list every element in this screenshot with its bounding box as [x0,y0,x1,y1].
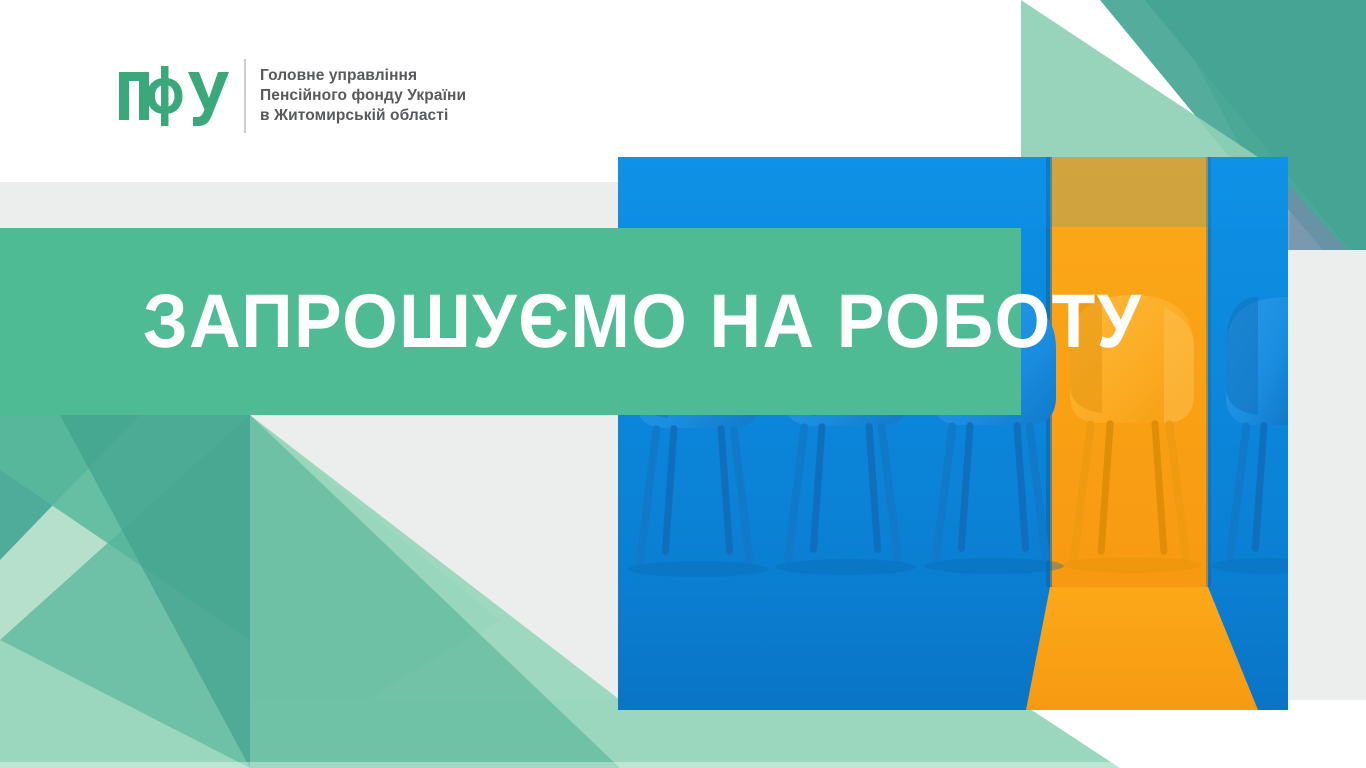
logo-subtitle: Головне управління Пенсійного фонду Укра… [260,66,466,126]
poster-canvas: Головне управління Пенсійного фонду Укра… [0,0,1366,768]
logo-divider [244,59,246,133]
logo-subtitle-line-3: в Житомирській області [260,106,466,126]
logo-block: Головне управління Пенсійного фонду Укра… [118,57,466,135]
headline-text: ЗАПРОШУЄМО НА РОБОТУ [143,228,933,415]
logo-subtitle-line-1: Головне управління [260,66,466,86]
pfu-logo-mark [118,65,230,127]
logo-subtitle-line-2: Пенсійного фонду України [260,86,466,106]
